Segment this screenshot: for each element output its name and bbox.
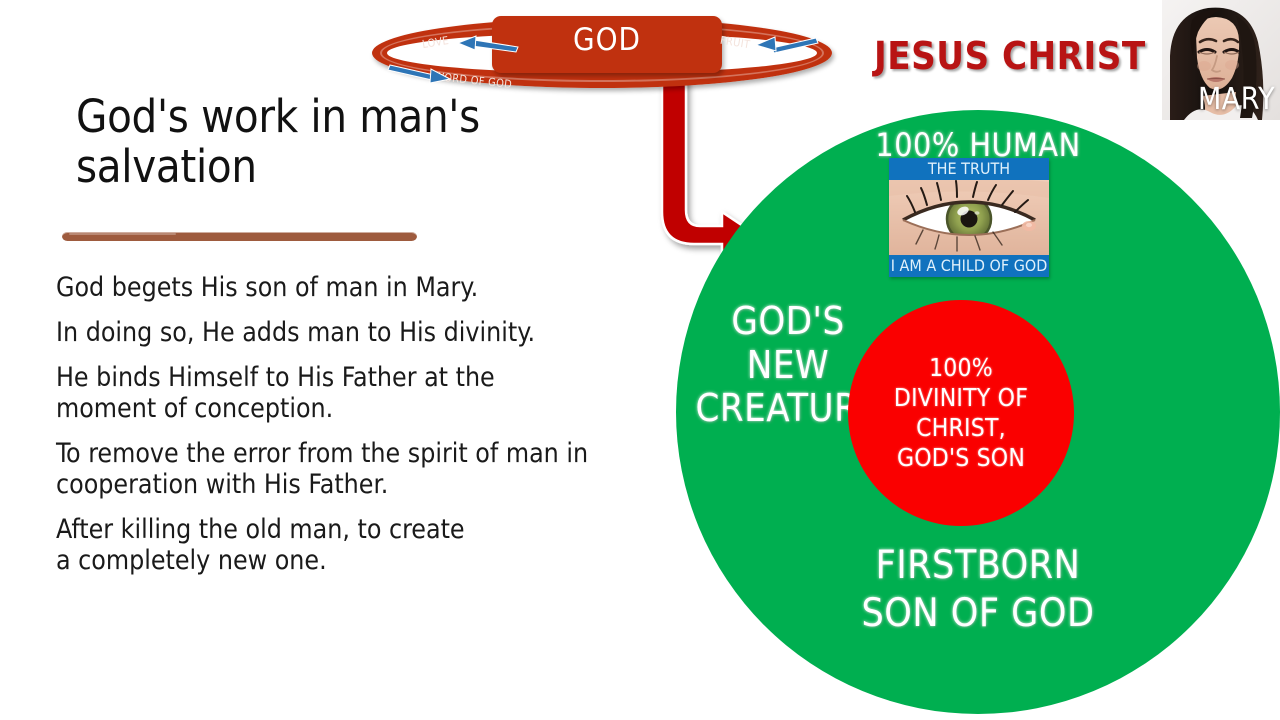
eye-card-bottom-banner: I AM A CHILD OF GOD (889, 255, 1049, 277)
word-of-god-arrow-icon (388, 62, 452, 84)
green-circle-new-creature: 100% HUMAN THE TRUTH (676, 110, 1280, 714)
red-circle-divinity: 100% DIVINITY OF CHRIST, GOD'S SON (848, 300, 1074, 526)
list-item: In doing so, He adds man to His divinity… (56, 317, 656, 348)
slide-canvas: God's work in man's salvation God begets… (0, 0, 1280, 720)
eye-truth-card: THE TRUTH (889, 158, 1049, 277)
god-oval-diagram: GOD LOVE FRUIT WORD OF GOD (372, 6, 842, 98)
god-label: GOD (492, 22, 722, 58)
bullet-list: God begets His son of man in Mary. In do… (56, 272, 656, 590)
divinity-label: 100% DIVINITY OF CHRIST, GOD'S SON (894, 353, 1028, 473)
list-item: He binds Himself to His Father at the mo… (56, 362, 656, 424)
jesus-christ-heading: JESUS CHRIST (874, 34, 1146, 78)
list-item: To remove the error from the spirit of m… (56, 438, 656, 500)
eye-card-top-banner: THE TRUTH (889, 158, 1049, 180)
title-block: God's work in man's salvation (76, 92, 546, 193)
title-underline-rule (62, 232, 417, 241)
list-item: After killing the old man, to create a c… (56, 514, 656, 576)
love-arrow-icon (456, 36, 520, 54)
human-eye-image (889, 180, 1049, 255)
firstborn-son-label: FIRSTBORN SON OF GOD (676, 542, 1280, 637)
page-title: God's work in man's salvation (76, 92, 546, 193)
fruit-arrow-icon (754, 34, 818, 52)
list-item: God begets His son of man in Mary. (56, 272, 656, 303)
mary-label: MARY (1198, 82, 1275, 117)
god-box: GOD (492, 16, 722, 73)
